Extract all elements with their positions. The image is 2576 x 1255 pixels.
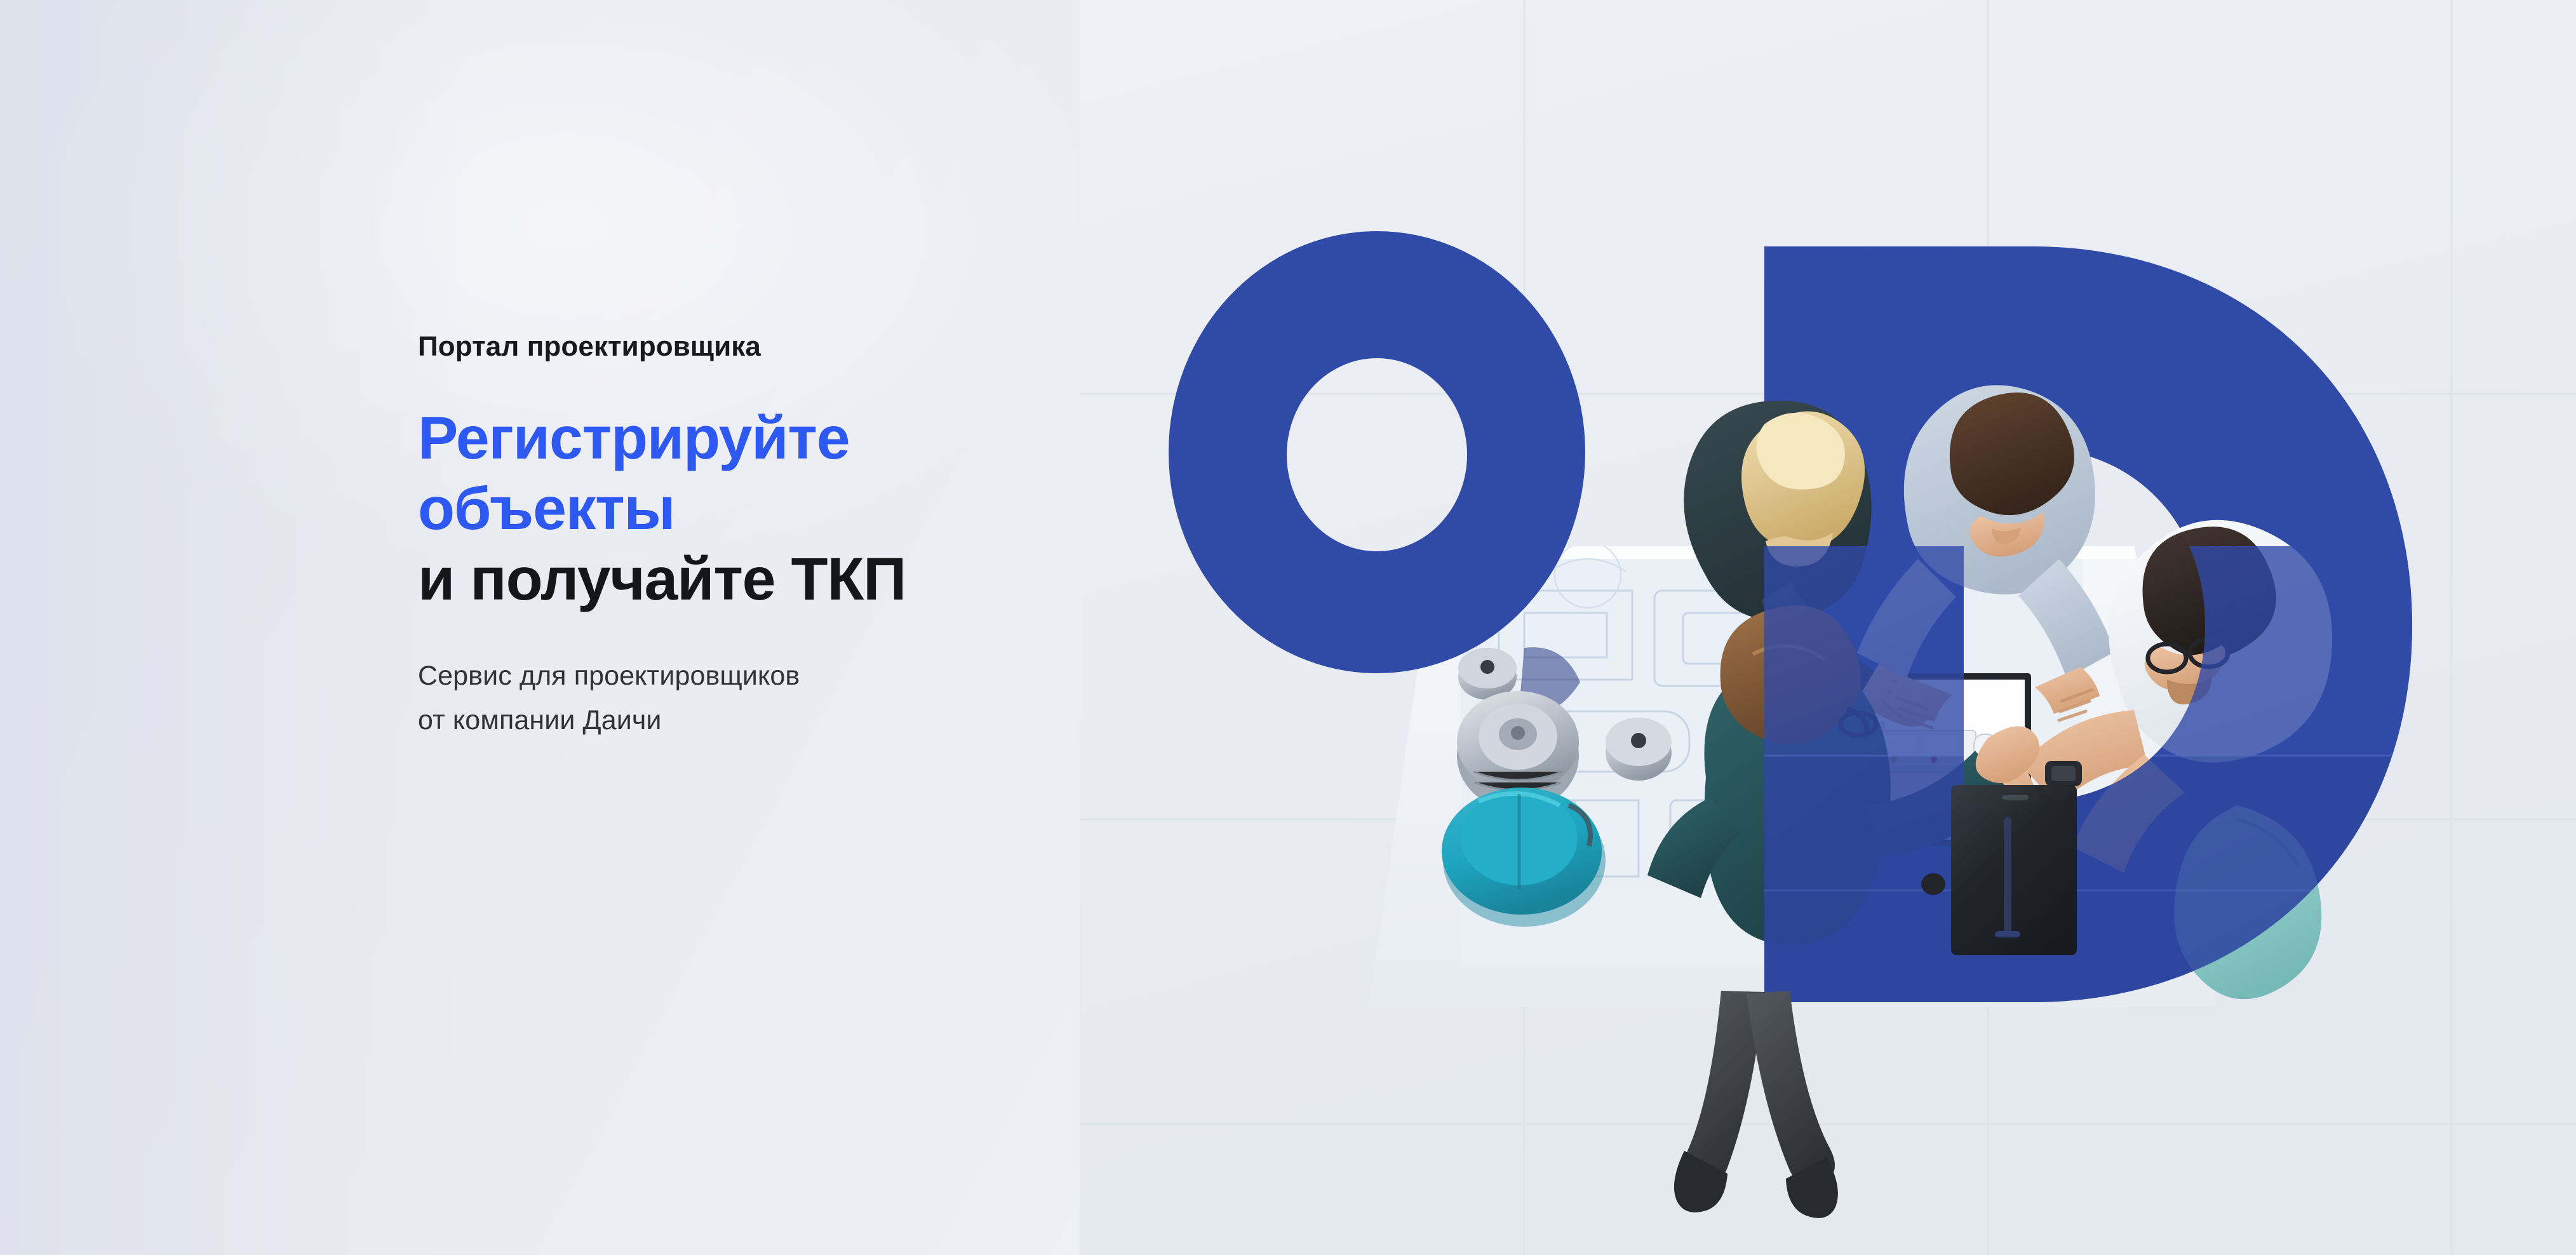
brand-od-illustration [1080, 0, 2576, 1255]
graphic-overlay-sheen [1080, 0, 2576, 1255]
hero-graphic [1080, 0, 2576, 1255]
hero-banner: Портал проектировщика Регистрируйте объе… [0, 0, 2576, 1255]
